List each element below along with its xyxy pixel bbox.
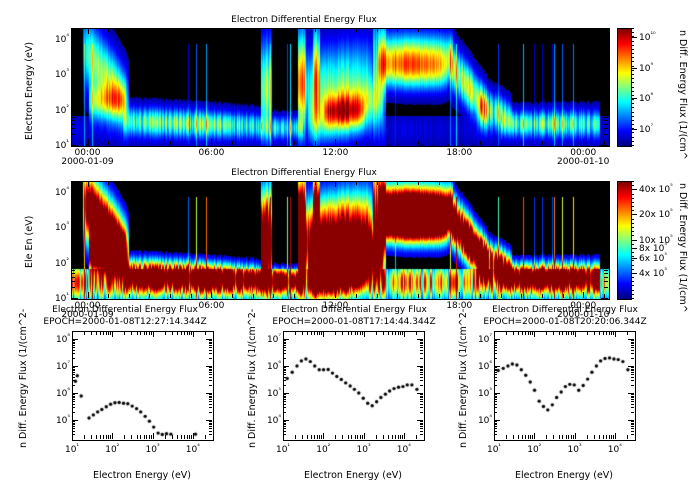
spec-top-ytick-major-r [601, 145, 608, 146]
xy1-ytick-minor [283, 347, 286, 348]
cbar-top-tick-minor [631, 145, 634, 146]
xy0-ytick-minor [72, 385, 75, 386]
xy2-xtick-minor [559, 435, 560, 439]
xy1-xtick-minor [376, 435, 377, 439]
spec-top-xtick-minor [418, 141, 419, 145]
xy1-ytick-minor-r [420, 350, 423, 351]
xy2-ytick-minor [494, 404, 497, 405]
xy1-xtick-minor [317, 435, 318, 439]
xy0-xtick-minor [103, 435, 104, 439]
xy1-ytick-minor [283, 399, 286, 400]
top-spectrogram[interactable] [71, 28, 610, 147]
xy1-ytick-minor-r [420, 426, 423, 427]
spec-top-xtick-minor [253, 141, 254, 145]
xy2-xtick-minor-t [518, 331, 519, 335]
xy2-xtick-minor [606, 435, 607, 439]
spec-top-ytick-minor-r [604, 47, 608, 48]
spec-top-ytick-minor [71, 57, 75, 58]
spec-top-xtick-top [459, 28, 460, 34]
xy0-xtick-minor [144, 435, 145, 439]
xy0-xtick-minor-t [91, 331, 92, 335]
xy2-ytick-minor-r [631, 396, 634, 397]
xy0-ytick-minor-r [209, 397, 212, 398]
xy0-xtick-major-t [153, 331, 154, 337]
xy0-ytick-minor [72, 340, 75, 341]
top-panel-title: Electron Differential Energy Flux [0, 15, 608, 25]
middle-colorbar [617, 181, 632, 300]
xy2-xtick-minor-t [546, 331, 547, 335]
cbar-middle-tick-minor [631, 223, 634, 224]
xy0-ytick-minor [72, 431, 75, 432]
spec-top-ytick-minor [71, 128, 75, 129]
xy0-xtick-major [193, 433, 194, 439]
spec-top-xtick-major [583, 139, 584, 145]
xy1-xtick-label: 10³ [348, 442, 380, 455]
spec-top-ytick-minor [71, 93, 75, 94]
xy2-xtick-minor-t [525, 331, 526, 335]
spectrum-1-epoch: EPOCH=2000-01-08T12:27:14.344Z [14, 317, 236, 327]
cbar-top-tick-minor [631, 28, 634, 29]
spec-top-ytick-minor [71, 88, 75, 89]
xy0-ytick-minor-r [209, 367, 212, 368]
spec-middle-ytick-minor [71, 238, 75, 239]
spec-middle-ytick-minor [71, 181, 75, 182]
xy0-xtick-minor-t [172, 331, 173, 335]
xy0-xtick-major [153, 433, 154, 439]
xy1-xtick-minor-t [402, 331, 403, 335]
xy0-ytick-minor [72, 350, 75, 351]
xy0-xtick-label: 10² [96, 442, 128, 455]
spec-top-ytick-label: 10² [43, 103, 69, 116]
cbar-middle-tick-minor [631, 198, 634, 199]
xy0-xtick-minor [189, 435, 190, 439]
spec-middle-ytick-minor [71, 264, 75, 265]
spec-top-xtick-top [191, 28, 192, 32]
xy2-ytick-minor-r [631, 358, 634, 359]
xy0-ytick-minor-r [209, 434, 212, 435]
spec-top-xtick-major [88, 139, 89, 145]
xy0-ytick-minor-r [209, 404, 212, 405]
spec-middle-ytick-minor [71, 277, 75, 278]
xy1-xtick-minor-t [295, 331, 296, 335]
xy1-xtick-label: 10⁴ [388, 442, 420, 455]
spec-middle-xtick-minor [149, 294, 150, 298]
spec-middle-ytick-minor-r [604, 277, 608, 278]
spec-middle-xtick-minor [108, 294, 109, 298]
xy1-xtick-minor-t [398, 331, 399, 335]
xy2-xtick-minor-t [506, 331, 507, 335]
xy0-ytick-minor-r [209, 412, 212, 413]
xy2-ytick-minor [494, 358, 497, 359]
spec-top-xtick-top [232, 28, 233, 32]
spec-top-ytick-minor-r [604, 113, 608, 114]
spectrum-1-ylabel: n Diff. Energy Flux (1/(cm^2- [18, 309, 29, 448]
spec-top-ytick-minor-r [604, 53, 608, 54]
spec-middle-xtick-top [521, 181, 522, 185]
xy0-ytick-minor [72, 347, 75, 348]
xy2-xtick-minor [518, 435, 519, 439]
xy1-ytick-minor-r [420, 353, 423, 354]
xy0-ytick-minor [72, 380, 75, 381]
spec-middle-xtick-major [88, 292, 89, 298]
xy2-xtick-minor [525, 435, 526, 439]
xy2-ytick-minor [494, 428, 497, 429]
xy1-ytick-minor [283, 428, 286, 429]
xy2-xtick-minor [573, 435, 574, 439]
xy2-xtick-minor [613, 435, 614, 439]
spec-top-xtick-top [88, 28, 89, 34]
cbar-middle-tick-minor [631, 273, 634, 274]
xy1-ytick-minor-r [420, 431, 423, 432]
xy1-xtick-minor [348, 435, 349, 439]
xy1-xtick-label: 10¹ [267, 442, 299, 455]
xy1-ytick-minor [283, 412, 286, 413]
xy2-xtick-minor [627, 435, 628, 439]
xy2-xtick-minor [566, 435, 567, 439]
xy0-ytick-minor-r [209, 353, 212, 354]
spec-top-ytick-minor-r [604, 93, 608, 94]
spectrum-2-xlabel: Electron Energy (eV) [283, 470, 423, 481]
xy2-ytick-minor-r [631, 353, 634, 354]
xy1-xtick-major-t [404, 331, 405, 337]
xy2-ytick-minor-r [631, 343, 634, 344]
xy0-ytick-minor-r [209, 423, 212, 424]
xy1-ytick-minor-r [420, 347, 423, 348]
spec-middle-ytick-minor [71, 195, 75, 196]
spec-middle-ytick-minor-r [604, 268, 608, 269]
spec-middle-ytick-label: 10⁴ [43, 185, 69, 198]
xy0-ytick-minor [72, 412, 75, 413]
spec-top-xtick-top [211, 28, 212, 34]
cbar-top-tick-minor [631, 32, 634, 33]
spec-middle-xtick-major [583, 292, 584, 298]
xy2-ytick-minor-r [631, 412, 634, 413]
xy2-xtick-minor-t [566, 331, 567, 335]
xy0-ytick-minor-r [209, 428, 212, 429]
xy2-xtick-minor-t [609, 331, 610, 335]
spec-top-ytick-label: 10⁴ [43, 32, 69, 45]
spec-middle-xtick-top [542, 181, 543, 185]
xy2-ytick-minor-r [631, 404, 634, 405]
xy2-xtick-minor-t [522, 331, 523, 335]
xy2-xtick-minor-t [528, 331, 529, 335]
spec-top-xtick-major [211, 139, 212, 145]
spec-top-xtick-top [253, 28, 254, 32]
spec-top-xtick-top [294, 28, 295, 32]
xy0-ytick-minor [72, 343, 75, 344]
xy2-ytick-minor [494, 340, 497, 341]
xy0-xtick-minor-t [187, 331, 188, 335]
xy2-ytick-minor [494, 423, 497, 424]
spec-top-ytick-minor [71, 63, 75, 64]
xy2-ytick-minor-r [631, 350, 634, 351]
xy1-ytick-minor-r [420, 380, 423, 381]
xy1-ytick-minor [283, 396, 286, 397]
spec-middle-ytick-minor-r [604, 241, 608, 242]
spec-top-ytick-minor-r [604, 76, 608, 77]
xy1-ytick-minor-r [420, 343, 423, 344]
xy1-ytick-minor [283, 407, 286, 408]
xy1-xtick-major [404, 433, 405, 439]
cbar-top-tick [631, 68, 637, 69]
spec-top-ytick-minor [71, 120, 75, 121]
xy0-xtick-minor [205, 435, 206, 439]
xy0-xtick-minor [184, 435, 185, 439]
xy1-ytick-minor-r [420, 401, 423, 402]
xy0-xtick-major-t [193, 331, 194, 337]
xy1-xtick-minor [392, 435, 393, 439]
xy1-ytick-minor-r [420, 424, 423, 425]
spec-top-xtick-top [129, 28, 130, 32]
spec-top-ytick-minor [71, 124, 75, 125]
xy0-xtick-minor-t [124, 331, 125, 335]
spec-middle-ytick-major [71, 298, 78, 299]
spec-top-xtick-minor [439, 141, 440, 145]
xy2-ytick-minor-r [631, 423, 634, 424]
xy1-xtick-minor-t [335, 331, 336, 335]
xy1-xtick-minor [416, 435, 417, 439]
xy0-ytick-minor-r [209, 340, 212, 341]
spec-top-xtick-minor [501, 141, 502, 145]
spec-middle-xtick-minor [232, 294, 233, 298]
xy0-xtick-minor-t [140, 331, 141, 335]
spec-middle-ytick-minor [71, 229, 75, 230]
spectrum-2-plot[interactable] [283, 331, 425, 441]
xy0-xtick-minor [106, 435, 107, 439]
xy1-xtick-minor [319, 435, 320, 439]
xy0-ytick-minor [72, 426, 75, 427]
xy1-ytick-minor-r [420, 340, 423, 341]
xy1-xtick-minor [398, 435, 399, 439]
cbar-middle-tick-minor [631, 298, 634, 299]
xy1-xtick-minor-t [342, 331, 343, 335]
spec-middle-xtick-minor [542, 294, 543, 298]
spectrum-2-ylabel: n Diff. Energy Flux (1/(cm^2- [247, 309, 258, 448]
spec-middle-xtick-label: 12:00 [311, 301, 359, 311]
spec-top-ytick-minor-r [604, 85, 608, 86]
xy2-ytick-minor [494, 421, 497, 422]
spec-top-xtick-top [356, 28, 357, 32]
cbar-middle-tick-minor [631, 256, 634, 257]
spec-middle-xtick-label: 18:00 [435, 301, 483, 311]
xy2-ytick-label: 10⁷ [467, 332, 492, 345]
spec-middle-ytick-minor [71, 206, 75, 207]
xy1-ytick-label: 10⁵ [256, 386, 281, 399]
xy0-xtick-minor [187, 435, 188, 439]
xy0-ytick-minor [72, 423, 75, 424]
spec-top-xtick-label: 06:00 [187, 148, 235, 158]
cbar-middle-tick-minor [631, 210, 634, 211]
spec-top-xtick-minor [149, 141, 150, 145]
cbar-middle-tick-minor [631, 231, 634, 232]
xy2-xtick-minor [599, 435, 600, 439]
xy2-xtick-minor [609, 435, 610, 439]
spec-top-ytick-minor [71, 47, 75, 48]
xy1-ytick-minor [283, 380, 286, 381]
spec-top-ytick-major [71, 145, 78, 146]
xy2-xtick-minor-t [568, 331, 569, 335]
spec-middle-xtick-top [480, 181, 481, 185]
cbar-top-tick-minor [631, 87, 634, 88]
xy0-xtick-major-t [112, 331, 113, 337]
xy1-xtick-minor-t [321, 331, 322, 335]
xy0-ytick-minor-r [209, 399, 212, 400]
spec-top-xtick-top [439, 28, 440, 32]
xy1-xtick-minor [295, 435, 296, 439]
xy1-ytick-minor [283, 394, 286, 395]
xy1-ytick-minor-r [420, 369, 423, 370]
xy1-ytick-minor [283, 401, 286, 402]
spec-top-ytick-minor-r [604, 42, 608, 43]
cbar-middle-tick-minor [631, 202, 634, 203]
spectrum-3-plot[interactable] [494, 331, 636, 441]
xy1-ytick-minor-r [420, 345, 423, 346]
spectrum-1-plot[interactable] [72, 331, 214, 441]
spec-top-xtick-top [521, 28, 522, 32]
cbar-top-tick-minor [631, 91, 634, 92]
spec-middle-xtick-minor [418, 294, 419, 298]
cbar-middle-tick-minor [631, 235, 634, 236]
xy0-xtick-minor-t [189, 331, 190, 335]
xy1-xtick-minor [360, 435, 361, 439]
cbar-top-tick-label: 10⁹ [639, 61, 653, 74]
xy2-ytick-minor-r [631, 370, 634, 371]
spec-top-ytick-minor-r [604, 134, 608, 135]
xy0-ytick-minor-r [209, 347, 212, 348]
xy0-ytick-label: 10⁶ [45, 386, 70, 399]
spectrum-2-epoch: EPOCH=2000-01-08T17:14:44.344Z [243, 317, 465, 327]
xy1-ytick-minor [283, 343, 286, 344]
spec-top-xtick-minor [356, 141, 357, 145]
xy2-xtick-minor [530, 435, 531, 439]
xy0-xtick-minor [131, 435, 132, 439]
xy2-ytick-minor-r [631, 372, 634, 373]
xy1-ytick-minor-r [420, 374, 423, 375]
cbar-middle-tick-minor [631, 244, 634, 245]
spec-top-xtick-label: 18:00 [435, 148, 483, 158]
xy2-ytick-minor [494, 347, 497, 348]
spec-top-ytick-minor-r [604, 82, 608, 83]
spec-top-ytick-label: 10³ [43, 67, 69, 80]
xy1-xtick-major-t [283, 331, 284, 337]
xy1-xtick-minor-t [348, 331, 349, 335]
xy1-ytick-minor [283, 350, 286, 351]
xy1-ytick-minor-r [420, 412, 423, 413]
xy1-ytick-minor-r [420, 394, 423, 395]
spec-top-ytick-minor [71, 115, 75, 116]
spec-middle-xtick-top [397, 181, 398, 185]
xy1-xtick-minor [400, 435, 401, 439]
spec-top-xtick-minor [294, 141, 295, 145]
cbar-middle-tick-label: 20x 10⁵ [639, 207, 673, 220]
spec-middle-ytick-major-r [601, 298, 608, 299]
cbar-top-tick-minor [631, 82, 634, 83]
cbar-top-tick-minor [631, 66, 634, 67]
xy1-ytick-minor-r [420, 377, 423, 378]
xy1-xtick-label: 10² [307, 442, 339, 455]
xy1-xtick-minor-t [302, 331, 303, 335]
xy1-ytick-minor [283, 340, 286, 341]
xy0-ytick-label: 10⁵ [45, 413, 70, 426]
xy0-xtick-minor-t [106, 331, 107, 335]
xy1-xtick-minor [395, 435, 396, 439]
xy2-xtick-minor [546, 435, 547, 439]
xy0-ytick-minor [72, 367, 75, 368]
xy2-ytick-minor [494, 426, 497, 427]
xy2-ytick-minor-r [631, 426, 634, 427]
xy1-ytick-minor [283, 385, 286, 386]
xy2-xtick-minor-t [594, 331, 595, 335]
xy1-xtick-minor-t [355, 331, 356, 335]
spec-middle-xtick-major [211, 292, 212, 298]
xy0-xtick-minor [165, 435, 166, 439]
xy2-xtick-minor-t [513, 331, 514, 335]
xy0-ytick-minor-r [209, 345, 212, 346]
spec-top-xtick-minor [170, 141, 171, 145]
xy1-ytick-minor [283, 367, 286, 368]
xy0-xtick-minor [110, 435, 111, 439]
spec-middle-ytick-minor-r [604, 281, 608, 282]
xy1-xtick-minor-t [311, 331, 312, 335]
xy2-xtick-label: 10² [518, 442, 550, 455]
xy2-xtick-minor [594, 435, 595, 439]
middle-panel-title: Electron Differential Energy Flux [0, 168, 608, 178]
xy0-ytick-minor-r [209, 377, 212, 378]
xy2-xtick-minor-t [627, 331, 628, 335]
spec-top-ytick-minor [71, 134, 75, 135]
xy0-xtick-minor [108, 435, 109, 439]
spec-top-ytick-minor-r [604, 111, 608, 112]
xy0-ytick-minor [72, 396, 75, 397]
spec-middle-ytick-minor [71, 200, 75, 201]
xy1-xtick-minor [357, 435, 358, 439]
xy2-xtick-minor [522, 435, 523, 439]
spec-middle-ytick-minor [71, 235, 75, 236]
spec-middle-ytick-minor-r [604, 206, 608, 207]
spec-top-ytick-minor [71, 28, 75, 29]
spectrum-1-xlabel: Electron Energy (eV) [72, 470, 212, 481]
spec-middle-xtick-top [315, 181, 316, 185]
spec-top-ytick-minor [71, 99, 75, 100]
xy0-xtick-minor-t [108, 331, 109, 335]
xy0-ytick-minor-r [209, 372, 212, 373]
xy1-ytick-minor-r [420, 434, 423, 435]
xy0-ytick-minor-r [209, 380, 212, 381]
spec-middle-xtick-minor [356, 294, 357, 298]
spec-middle-ytick-minor [71, 241, 75, 242]
xy0-ytick-minor-r [209, 426, 212, 427]
spec-middle-ytick-minor-r [604, 235, 608, 236]
spec-top-xtick-top [542, 28, 543, 32]
spec-middle-xtick-top [335, 181, 336, 187]
xy2-ytick-minor [494, 343, 497, 344]
spec-middle-ytick-minor [71, 197, 75, 198]
middle-spectrogram[interactable] [71, 181, 610, 300]
xy0-xtick-minor-t [205, 331, 206, 335]
xy2-ytick-minor [494, 342, 497, 343]
cbar-top-tick-minor [631, 107, 634, 108]
cbar-top-tick-minor [631, 74, 634, 75]
xy0-xtick-minor-t [177, 331, 178, 335]
xy2-ytick-minor-r [631, 431, 634, 432]
xy2-ytick-minor [494, 394, 497, 395]
xy1-xtick-major [323, 433, 324, 439]
spec-middle-ytick-minor-r [604, 193, 608, 194]
xy1-xtick-minor [307, 435, 308, 439]
spec-top-ytick-minor-r [604, 99, 608, 100]
cbar-top-tick-minor [631, 41, 634, 42]
xy0-xtick-major [72, 433, 73, 439]
